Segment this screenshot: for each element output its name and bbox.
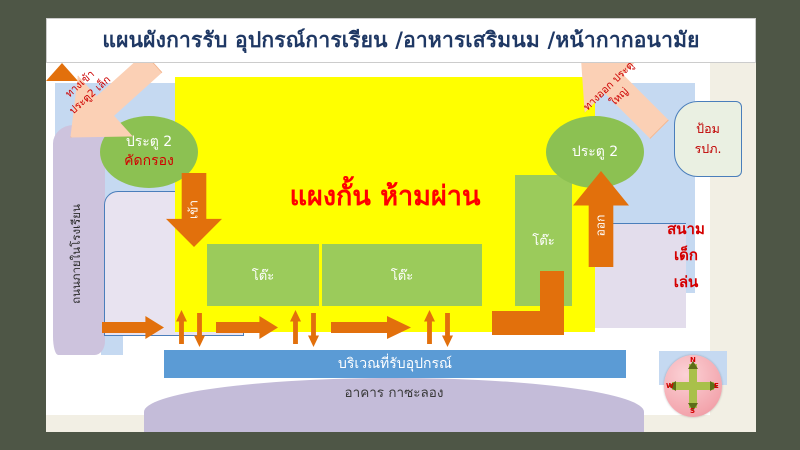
compass-label-north: N	[690, 356, 696, 364]
slide-canvas: แผนผังการรับ อุปกรณ์การเรียน /อาหารเสริม…	[0, 0, 800, 450]
floorplan-map: ถนนภายในโรงเรียน แผงกั้น ห้ามผ่าน โต๊ะ โ…	[46, 63, 756, 432]
gate-right-marker: ประตู 2	[546, 116, 644, 188]
gate-left-name: ประตู 2	[126, 133, 172, 152]
flow-arrow-turn-vertical	[540, 271, 564, 323]
guard-booth-line2: รปภ.	[695, 139, 722, 159]
compass-label-west: W	[666, 382, 674, 390]
exit-arrow-label: ออก	[592, 209, 611, 243]
left-road-label: ถนนภายในโรงเรียน	[68, 184, 90, 324]
table-row: โต๊ะ	[322, 244, 482, 306]
compass-rose-icon: N S E W	[664, 355, 722, 417]
gate-left-note: คัดกรอง	[124, 152, 174, 171]
guard-booth-line1: ป้อม	[696, 119, 720, 139]
page-title: แผนผังการรับ อุปกรณ์การเรียน /อาหารเสริม…	[102, 24, 699, 57]
guard-booth-marker: ป้อม รปภ.	[674, 101, 742, 177]
left-road-strip: ถนนภายในโรงเรียน	[53, 125, 105, 355]
compass-bar-vertical	[689, 364, 697, 408]
compass-label-east: E	[714, 382, 719, 390]
playground-line2: เด็ก	[674, 242, 698, 268]
playground-line3: เล่น	[674, 269, 699, 295]
table-row: โต๊ะ	[207, 244, 319, 306]
enter-arrow-label: เข้า	[185, 193, 204, 227]
building-label: อาคาร กาซะลอง	[144, 381, 644, 403]
compass-label-south: S	[690, 407, 695, 415]
title-bar: แผนผังการรับ อุปกรณ์การเรียน /อาหารเสริม…	[46, 18, 756, 63]
pickup-area-banner: บริเวณที่รับอุปกรณ์	[164, 350, 626, 378]
playground-line1: สนาม	[667, 216, 705, 242]
playground-label: สนาม เด็ก เล่น	[650, 216, 722, 316]
gate-right-name: ประตู 2	[572, 143, 618, 162]
